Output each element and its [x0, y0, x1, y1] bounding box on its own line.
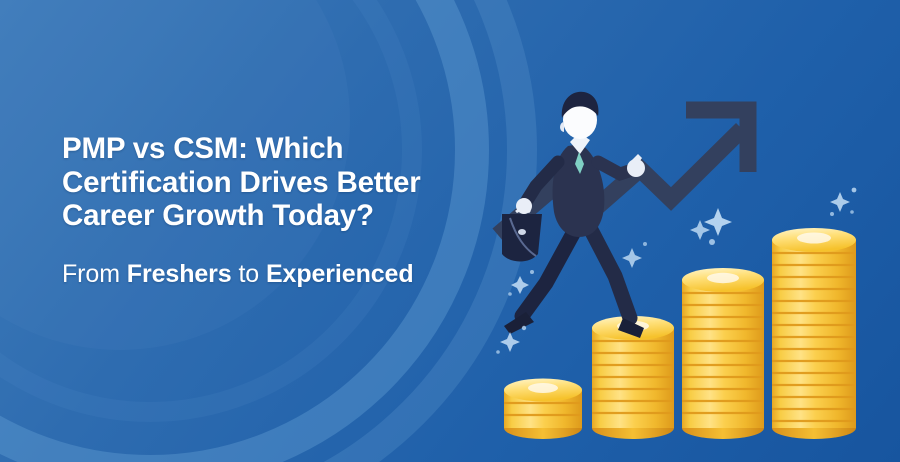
text-block: PMP vs CSM: Which Certification Drives B… — [62, 132, 532, 289]
figure-front-arm — [598, 162, 632, 174]
headline-line-2: Certification Drives Better — [62, 166, 532, 200]
sparkle-cluster-hand — [622, 242, 647, 268]
coin-stack-4 — [772, 228, 856, 439]
subtitle-bold-experienced: Experienced — [266, 260, 414, 288]
coin-stack-3 — [682, 268, 764, 439]
subtitle-prefix: From — [62, 260, 127, 288]
page-title: PMP vs CSM: Which Certification Drives B… — [62, 132, 532, 233]
subtitle-bold-freshers: Freshers — [127, 260, 232, 288]
sparkle-cluster-center — [690, 208, 732, 245]
growth-illustration — [480, 80, 900, 462]
figure-front-leg — [590, 228, 630, 318]
subtitle-middle: to — [232, 260, 266, 288]
promo-banner: PMP vs CSM: Which Certification Drives B… — [0, 0, 900, 462]
figure-ear — [560, 122, 564, 132]
coin-stack-1 — [504, 379, 582, 440]
sparkle-cluster-right-top — [830, 188, 856, 216]
headline-line-3: Career Growth Today? — [62, 199, 532, 233]
headline-line-1: PMP vs CSM: Which — [62, 132, 532, 166]
subtitle: From Freshers to Experienced — [62, 259, 532, 289]
